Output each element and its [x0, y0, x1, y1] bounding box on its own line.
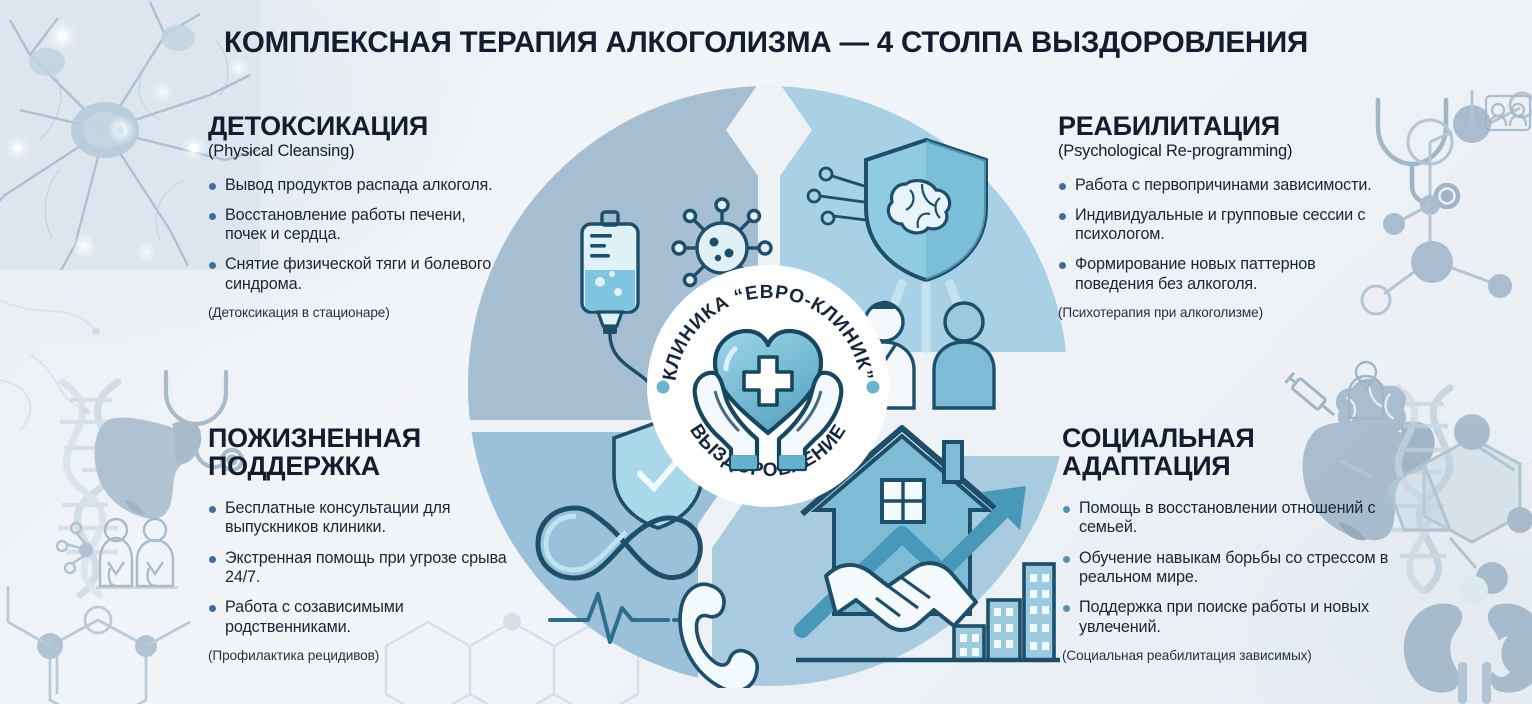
list-item: Работа с созависимыми родственниками. — [208, 598, 528, 637]
list-item: Бесплатные консультации для выпускников … — [208, 499, 528, 538]
badge-dot-left — [657, 381, 670, 394]
liver-icon — [95, 418, 202, 519]
social-adaptation-title: СОЦИАЛЬНАЯ АДАПТАЦИЯ — [1062, 424, 1392, 480]
badge-dot-right — [867, 381, 880, 394]
lifelong-support-title: ПОЖИЗНЕННАЯ ПОДДЕРЖКА — [208, 424, 528, 480]
social-adaptation-bullet-list: Помощь в восстановлении отношений с семь… — [1062, 499, 1392, 637]
list-item: Поддержка при поиске работы и новых увле… — [1062, 598, 1392, 637]
block-social-adaptation: СОЦИАЛЬНАЯ АДАПТАЦИЯ Помощь в восстановл… — [1062, 424, 1392, 663]
list-item: Восстановление работы печени, почек и се… — [208, 206, 498, 245]
list-item: Обучение навыкам борьбы со стрессом в ре… — [1062, 549, 1392, 588]
list-item: Работа с первопричинами зависимости. — [1058, 176, 1398, 195]
list-item: Вывод продуктов распада алкоголя. — [208, 176, 498, 195]
block-lifelong-support: ПОЖИЗНЕННАЯ ПОДДЕРЖКА Бесплатные консуль… — [208, 424, 528, 663]
rehabilitation-note: (Психотерапия при алкоголизме) — [1058, 305, 1398, 320]
detox-bullet-list: Вывод продуктов распада алкоголя. Восста… — [208, 176, 498, 294]
lifelong-support-bullet-list: Бесплатные консультации для выпускников … — [208, 499, 528, 637]
kidneys-icon — [1404, 604, 1532, 704]
rehabilitation-bullet-list: Работа с первопричинами зависимости. Инд… — [1058, 176, 1398, 294]
list-item: Формирование новых паттернов поведения б… — [1058, 255, 1398, 294]
list-item: Снятие физической тяги и болевого синдро… — [208, 255, 498, 294]
block-detox: ДЕТОКСИКАЦИЯ (Physical Cleansing) Вывод … — [208, 112, 498, 320]
list-item: Индивидуальные и групповые сессии с псих… — [1058, 206, 1398, 245]
detox-note: (Детоксикация в стационаре) — [208, 305, 498, 320]
page-title: КОМПЛЕКСНАЯ ТЕРАПИЯ АЛКОГОЛИЗМА — 4 СТОЛ… — [0, 26, 1532, 60]
lifelong-support-note: (Профилактика рецидивов) — [208, 648, 528, 663]
detox-subtitle: (Physical Cleansing) — [208, 142, 498, 160]
list-item: Экстренная помощь при угрозе срыва 24/7. — [208, 549, 528, 588]
hexagon-molecule-icon — [8, 586, 190, 704]
list-item: Помощь в восстановлении отношений с семь… — [1062, 499, 1392, 538]
rehabilitation-title: РЕАБИЛИТАЦИЯ — [1058, 112, 1398, 140]
rehabilitation-subtitle: (Psychological Re-programming) — [1058, 142, 1398, 160]
syringe-icon — [1286, 373, 1339, 420]
detox-title: ДЕТОКСИКАЦИЯ — [208, 112, 498, 140]
clinic-center-badge: КЛИНИКА “ЕВРО-КЛИНИК” ВЫЗДОРОВЛЕНИЕ — [645, 263, 891, 509]
block-rehabilitation: РЕАБИЛИТАЦИЯ (Psychological Re-programmi… — [1058, 112, 1398, 320]
social-adaptation-note: (Социальная реабилитация зависимых) — [1062, 648, 1392, 663]
left-decor-group — [0, 300, 242, 704]
